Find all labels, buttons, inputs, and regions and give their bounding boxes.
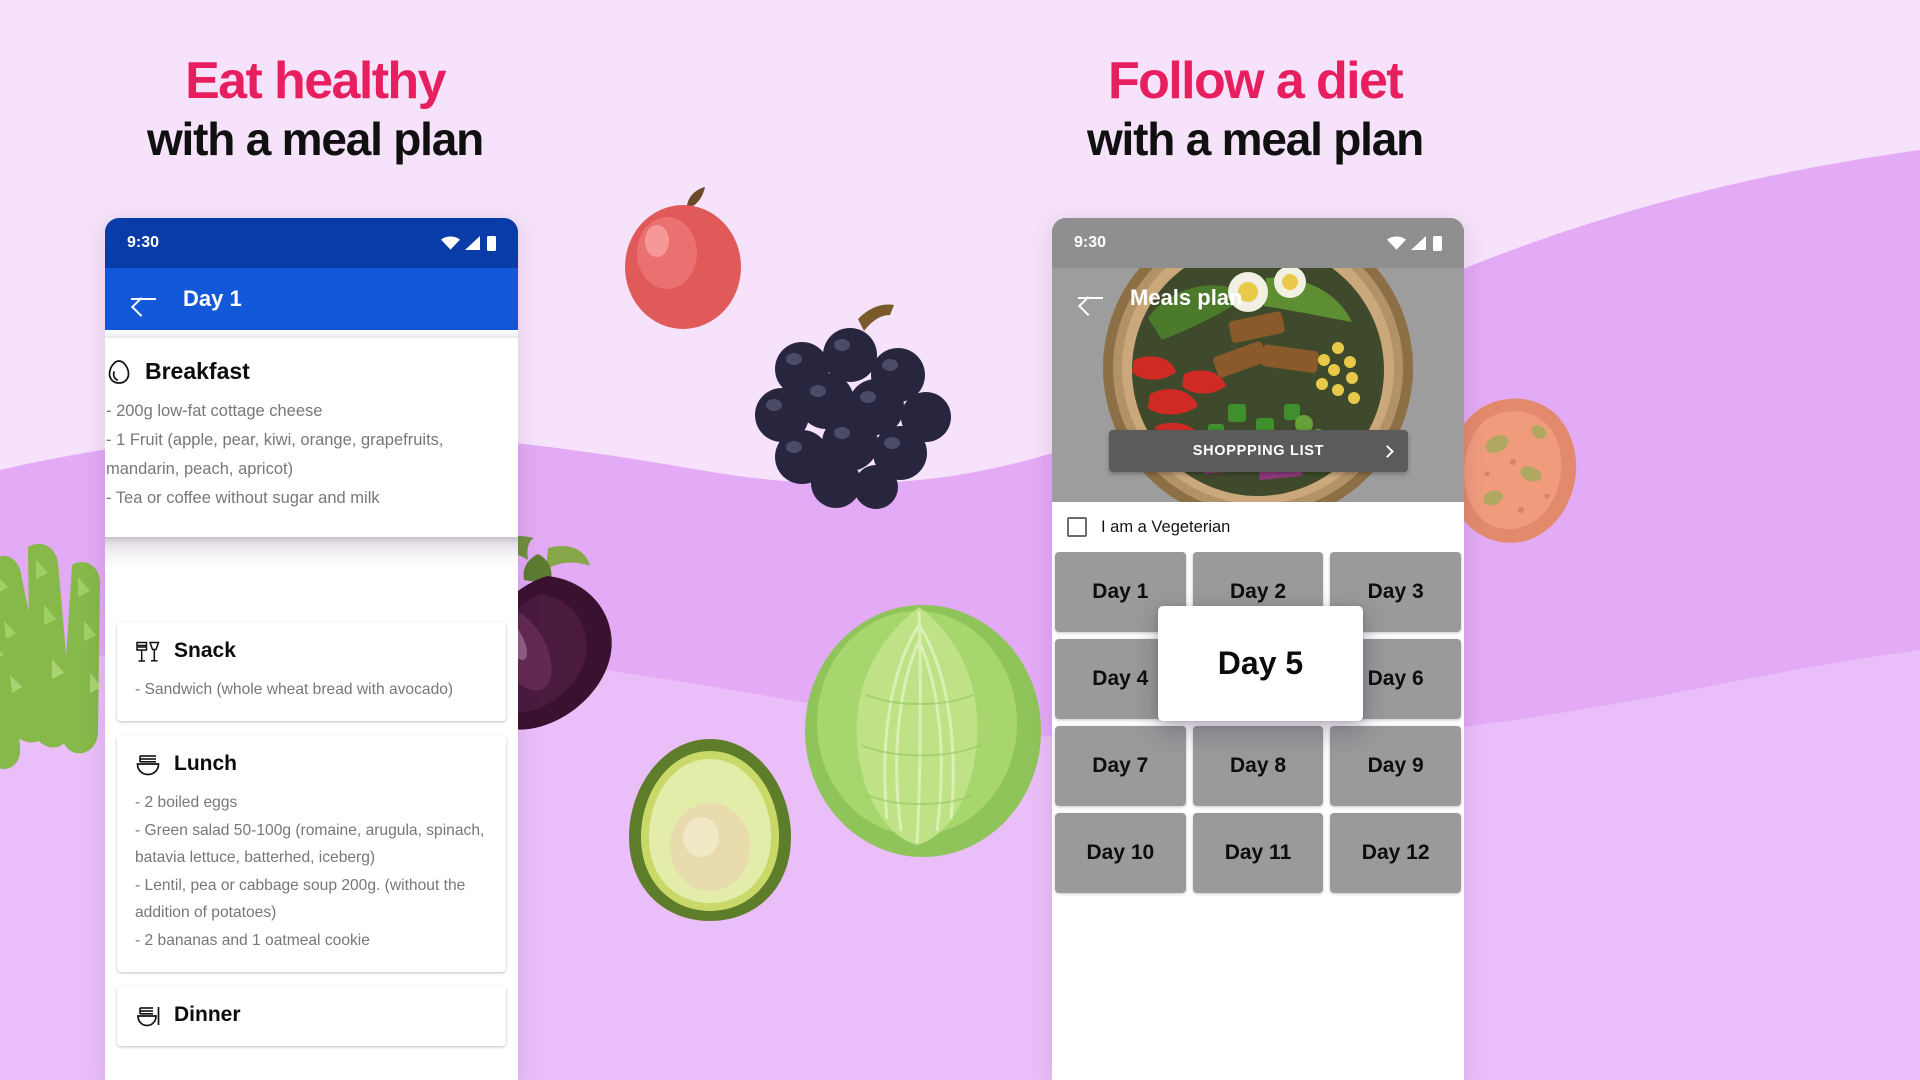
meal-card-header: Lunch	[135, 751, 488, 777]
meal-card-body: - 2 boiled eggs - Green salad 50-100g (r…	[135, 789, 488, 954]
headline-right: Follow a diet with a meal plan	[1020, 55, 1490, 163]
sandwich-drink-icon	[135, 638, 161, 664]
headline-right-subtitle: with a meal plan	[1020, 116, 1490, 163]
wifi-icon	[441, 236, 460, 250]
arrow-back-icon[interactable]	[131, 289, 157, 309]
battery-icon	[487, 236, 496, 251]
headline-right-accent: Follow a diet	[1020, 55, 1490, 108]
meal-card-header: Snack	[135, 638, 488, 664]
right-status-time: 9:30	[1074, 234, 1106, 252]
right-status-bar: 9:30	[1052, 218, 1464, 268]
right-app-bar-title: Meals plan	[1130, 285, 1242, 311]
signal-icon	[465, 236, 482, 250]
day-cell-8[interactable]: Day 8	[1193, 726, 1324, 806]
right-app-bar: Meals plan	[1052, 268, 1464, 328]
dinner-plate-icon	[135, 1002, 161, 1028]
day-cell-11[interactable]: Day 11	[1193, 813, 1324, 893]
noodle-bowl-icon	[135, 751, 161, 777]
arrow-back-icon[interactable]	[1078, 288, 1104, 308]
left-app-bar-title: Day 1	[183, 286, 242, 312]
day-cell-12[interactable]: Day 12	[1330, 813, 1461, 893]
selected-day-popup[interactable]: Day 5	[1158, 606, 1363, 721]
day-cell-7[interactable]: Day 7	[1055, 726, 1186, 806]
meal-card-snack[interactable]: Snack - Sandwich (whole wheat bread with…	[117, 622, 506, 721]
left-status-time: 9:30	[127, 234, 159, 252]
meal-card-breakfast[interactable]: Breakfast - 200g low-fat cottage cheese …	[105, 338, 518, 537]
signal-icon	[1411, 236, 1428, 250]
meal-line: - Tea or coffee without sugar and milk	[106, 484, 517, 513]
day-cell-9[interactable]: Day 9	[1330, 726, 1461, 806]
vegetarian-option-row[interactable]: I am a Vegeterian	[1052, 502, 1464, 552]
meal-line: - 1 Fruit (apple, pear, kiwi, orange, gr…	[106, 426, 517, 484]
meal-card-dinner[interactable]: Dinner	[117, 986, 506, 1046]
wifi-icon	[1387, 236, 1406, 250]
meal-card-lunch[interactable]: Lunch - 2 boiled eggs - Green salad 50-1…	[117, 735, 506, 972]
left-status-bar: 9:30	[105, 218, 518, 268]
headline-left-accent: Eat healthy	[80, 55, 550, 108]
chevron-right-icon	[1381, 445, 1394, 458]
left-app-bar: Day 1	[105, 268, 518, 330]
meal-line: - 2 bananas and 1 oatmeal cookie	[135, 927, 488, 954]
egg-icon	[106, 359, 132, 385]
vegetarian-checkbox[interactable]	[1067, 517, 1087, 537]
headline-left-subtitle: with a meal plan	[80, 116, 550, 163]
meal-line: - 200g low-fat cottage cheese	[106, 397, 517, 426]
meal-line: - Sandwich (whole wheat bread with avoca…	[135, 676, 488, 703]
meal-line: - Green salad 50-100g (romaine, arugula,…	[135, 817, 488, 872]
meal-title: Snack	[174, 639, 236, 663]
day-grid: Day 1 Day 2 Day 3 Day 4 Day 5 Day 6 Day …	[1052, 552, 1464, 893]
headline-left: Eat healthy with a meal plan	[80, 55, 550, 163]
meal-card-header: Breakfast	[106, 358, 517, 385]
meal-title: Breakfast	[145, 358, 250, 385]
meal-line: - 2 boiled eggs	[135, 789, 488, 816]
meal-title: Dinner	[174, 1003, 241, 1027]
shopping-list-label: SHOPPPING LIST	[1193, 443, 1324, 459]
battery-icon	[1433, 236, 1442, 251]
meal-card-header: Dinner	[135, 1002, 488, 1028]
meal-card-body: - 200g low-fat cottage cheese - 1 Fruit …	[106, 397, 517, 513]
meal-card-body: - Sandwich (whole wheat bread with avoca…	[135, 676, 488, 703]
day-cell-10[interactable]: Day 10	[1055, 813, 1186, 893]
left-status-icons	[441, 236, 496, 251]
shopping-list-button[interactable]: SHOPPPING LIST	[1109, 430, 1408, 472]
vegetarian-label: I am a Vegeterian	[1101, 518, 1230, 537]
meal-title: Lunch	[174, 752, 237, 776]
phone-mockup-right: 9:30 Meals plan SHOPPPING LIST I am a Ve…	[1052, 218, 1464, 1080]
phone-mockup-left: 9:30 Day 1 Breakfast - 200g low-fat cott…	[105, 218, 518, 1080]
meal-line: - Lentil, pea or cabbage soup 200g. (wit…	[135, 872, 488, 927]
right-status-icons	[1387, 236, 1442, 251]
